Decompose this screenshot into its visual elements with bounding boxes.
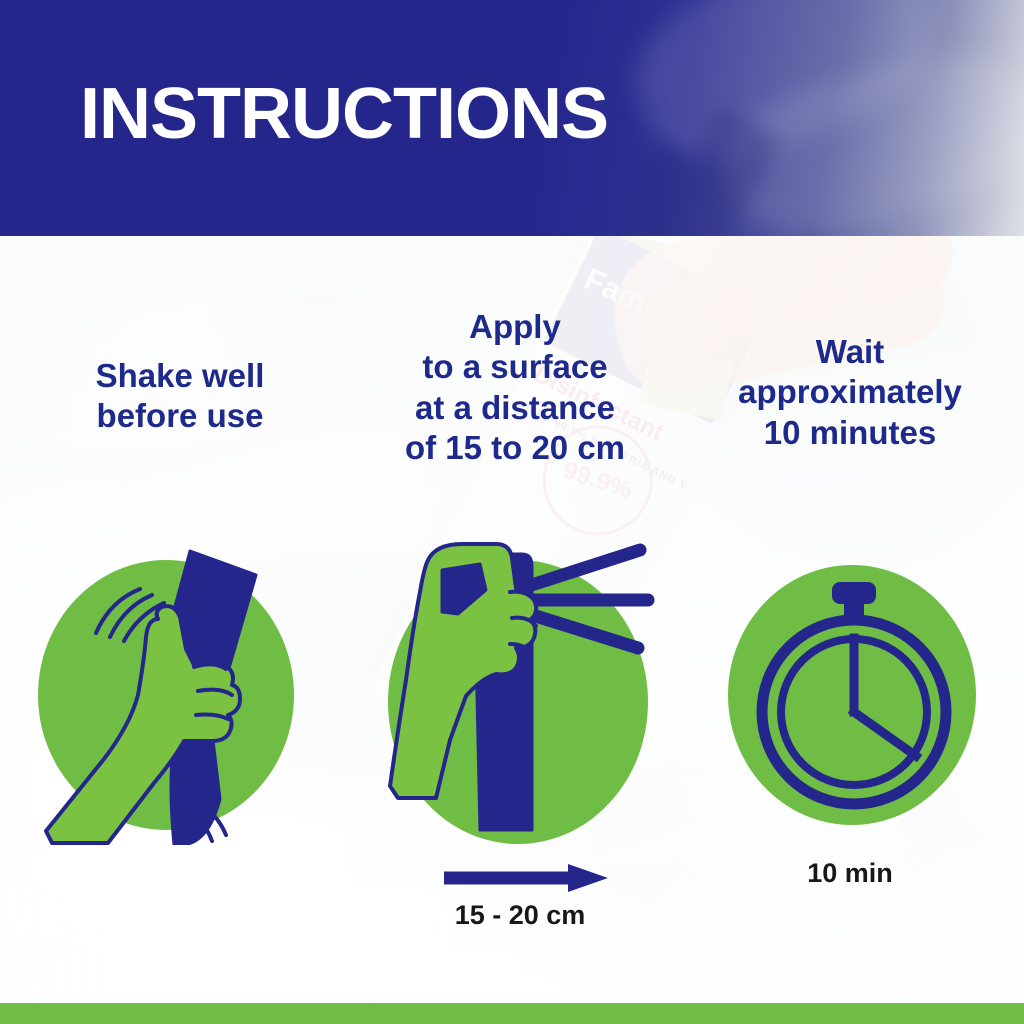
distance-arrow <box>440 862 610 894</box>
page-title: INSTRUCTIONS <box>80 78 608 150</box>
step-caption-wait: Wait approximately 10 minutes <box>700 332 1000 453</box>
time-label: 10 min <box>700 858 1000 889</box>
step-caption-apply: Apply to a surface at a distance of 15 t… <box>370 307 660 468</box>
step-icon-wait <box>726 560 986 830</box>
step-icon-apply <box>370 530 670 860</box>
header-banner: INSTRUCTIONS <box>0 0 1024 236</box>
hand-shaking-bottle-icon <box>34 545 324 845</box>
right-arrow-icon <box>440 862 610 894</box>
distance-label: 15 - 20 cm <box>400 900 640 931</box>
header-photo-fade <box>604 0 1024 236</box>
footer-green-bar <box>0 1003 1024 1024</box>
hand-spraying-bottle-icon <box>370 530 670 860</box>
step-icon-shake <box>34 545 324 845</box>
stopwatch-icon <box>726 560 986 830</box>
instructions-graphic: FamilyG Disinfectant 99.9% KILLS 99.9% B… <box>0 0 1024 1024</box>
step-caption-shake: Shake well before use <box>40 356 320 437</box>
